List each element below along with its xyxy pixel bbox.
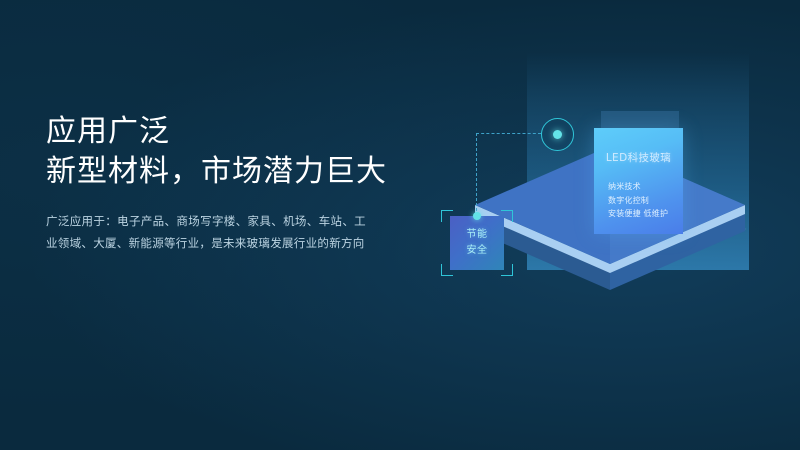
slide-canvas: 应用广泛 新型材料，市场潜力巨大 广泛应用于：电子产品、商场写字楼、家具、机场、… [0, 0, 800, 450]
glass-panel-features: 纳米技术 数字化控制 安装便捷 低维护 [608, 180, 668, 221]
callout-line-2: 安全 [467, 243, 488, 259]
glass-feature-1: 纳米技术 [608, 180, 668, 194]
glass-panel: LED科技玻璃 纳米技术 数字化控制 安装便捷 低维护 [594, 128, 683, 234]
glass-feature-2: 数字化控制 [608, 194, 668, 208]
glass-feature-3: 安装便捷 低维护 [608, 207, 668, 221]
bracket-top-right-icon [501, 210, 513, 222]
panel-backing-plate [601, 111, 679, 129]
connector-line-vertical [476, 133, 477, 211]
glass-panel-title: LED科技玻璃 [594, 150, 683, 165]
text-block: 应用广泛 新型材料，市场潜力巨大 广泛应用于：电子产品、商场写字楼、家具、机场、… [46, 112, 466, 254]
bracket-bottom-left-icon [441, 264, 453, 276]
connector-line-horizontal [476, 133, 541, 134]
callout-anchor-dot-icon [473, 212, 481, 220]
callout-badge[interactable]: 节能 安全 [441, 210, 513, 276]
page-title: 应用广泛 新型材料，市场潜力巨大 [46, 112, 466, 192]
bracket-top-left-icon [441, 210, 453, 222]
bracket-bottom-right-icon [501, 264, 513, 276]
headline-line-1: 应用广泛 [46, 114, 170, 149]
illustration: LED科技玻璃 纳米技术 数字化控制 安装便捷 低维护 节能 安全 [420, 0, 800, 450]
callout-box: 节能 安全 [450, 216, 504, 270]
body-paragraph: 广泛应用于：电子产品、商场写字楼、家具、机场、车站、工业领域、大厦、新能源等行业… [46, 210, 366, 254]
headline-line-2: 新型材料，市场潜力巨大 [46, 152, 466, 192]
node-dot-icon [553, 130, 562, 139]
callout-line-1: 节能 [467, 227, 488, 243]
